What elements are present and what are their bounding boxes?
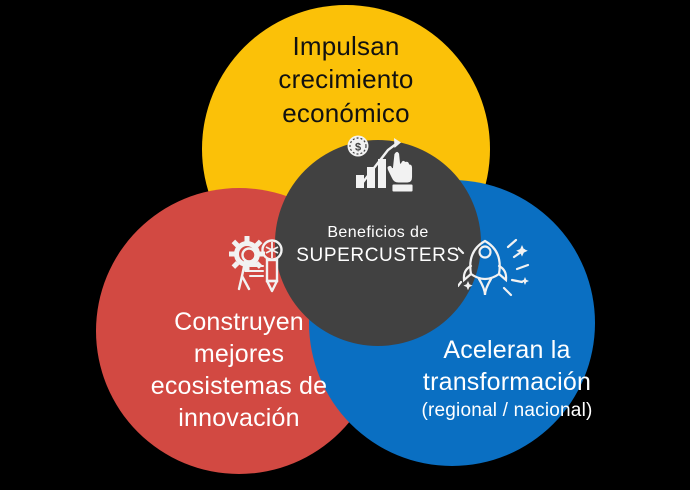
- rocket-icon: [458, 233, 534, 304]
- gear-person-pencil-icon: [228, 233, 290, 300]
- svg-text:$: $: [355, 142, 361, 154]
- growth-chart-dollar-hand-icon: $: [344, 134, 416, 201]
- venn-diagram: Impulsan crecimiento económico Construye…: [0, 0, 690, 490]
